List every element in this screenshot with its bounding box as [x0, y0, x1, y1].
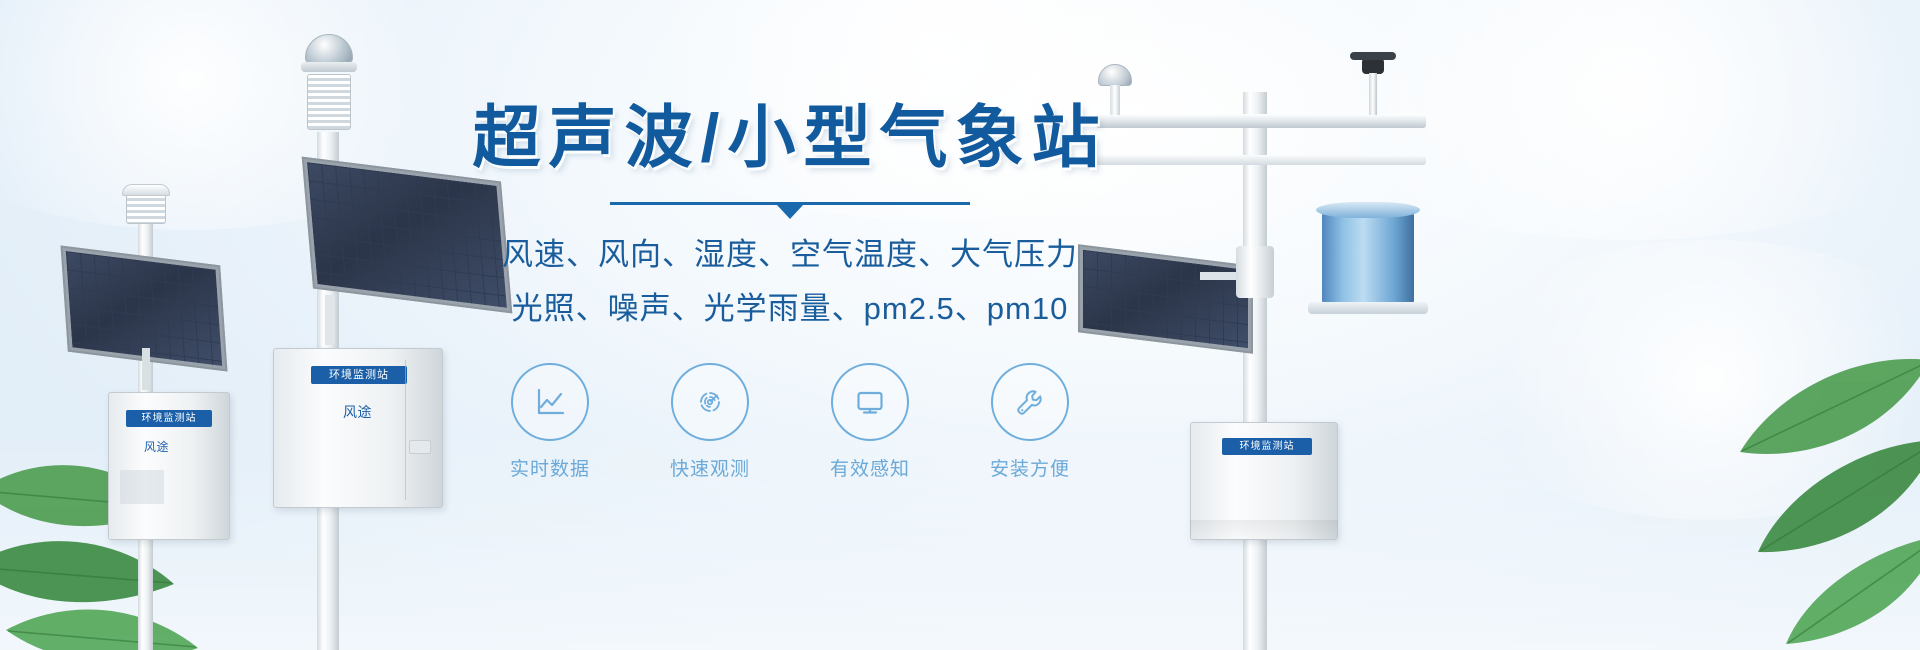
divider-triangle-icon: [777, 205, 803, 219]
rain-gauge-rim: [1316, 202, 1420, 218]
rain-gauge: [1322, 210, 1414, 306]
middle-radiation-shield: [307, 74, 351, 130]
rain-gauge-base: [1308, 302, 1428, 314]
feature-label: 实时数据: [489, 454, 611, 481]
feature-icon-ring: [671, 363, 749, 441]
right-cabinet-label: 环境监测站: [1222, 438, 1312, 455]
anemometer-stem: [1369, 73, 1377, 115]
right-station-crossarm-lower: [1096, 155, 1426, 165]
leaf-decoration-right: [1580, 300, 1920, 650]
feature-label: 有效感知: [809, 454, 931, 481]
monitor-display-icon: [850, 382, 890, 422]
ultrasonic-sensor-ring: [301, 62, 357, 72]
middle-panel-bracket: [325, 295, 335, 345]
page-title: 超声波/小型气象站: [440, 100, 1140, 176]
ultrasonic-wind-sensor: [1098, 64, 1132, 86]
feature-label: 安装方便: [969, 454, 1091, 481]
middle-cabinet-panel-seam: [405, 360, 406, 500]
right-cabinet-shadow: [1190, 520, 1338, 544]
title-divider: [610, 202, 970, 205]
ultrasonic-sensor-dome: [305, 34, 353, 64]
feature-item-effective-sensing[interactable]: 有效感知: [809, 363, 931, 481]
feature-icon-ring: [991, 363, 1069, 441]
left-shield-cap: [122, 184, 170, 196]
feature-item-fast-observation[interactable]: 快速观测: [649, 363, 771, 481]
feature-label: 快速观测: [649, 454, 771, 481]
feature-icon-ring: [831, 363, 909, 441]
product-banner: 环境监测站 风途 环境监测站 风途 超声波/小型气象站 风速、风向、湿度、空气温…: [0, 0, 1920, 650]
left-panel-bracket: [142, 348, 150, 390]
middle-cabinet-latch: [409, 440, 431, 454]
left-cabinet-brand: 风途: [144, 438, 169, 455]
left-radiation-shield: [126, 194, 166, 224]
right-mast-collar: [1236, 246, 1274, 298]
radar-observation-icon: [690, 382, 730, 422]
left-cabinet-vent: [120, 470, 164, 504]
anemometer-cups: [1350, 52, 1396, 60]
middle-cabinet-brand: 风途: [343, 402, 372, 422]
middle-cabinet-label: 环境监测站: [311, 366, 407, 384]
subtitle-line-1: 风速、风向、湿度、空气温度、大气压力: [440, 231, 1140, 279]
wrench-tool-icon: [1010, 382, 1050, 422]
feature-list: 实时数据: [440, 363, 1140, 481]
right-station-mast: [1243, 92, 1267, 650]
right-station-crossarm: [1096, 114, 1426, 128]
anemometer-head: [1362, 58, 1384, 74]
line-chart-icon: [530, 382, 570, 422]
left-cabinet-label: 环境监测站: [126, 410, 212, 427]
subtitle-line-2: 光照、噪声、光学雨量、pm2.5、pm10: [440, 285, 1140, 333]
feature-icon-ring: [511, 363, 589, 441]
feature-item-realtime-data[interactable]: 实时数据: [489, 363, 611, 481]
banner-text-block: 超声波/小型气象站 风速、风向、湿度、空气温度、大气压力 光照、噪声、光学雨量、…: [440, 100, 1140, 481]
feature-item-easy-install[interactable]: 安装方便: [969, 363, 1091, 481]
